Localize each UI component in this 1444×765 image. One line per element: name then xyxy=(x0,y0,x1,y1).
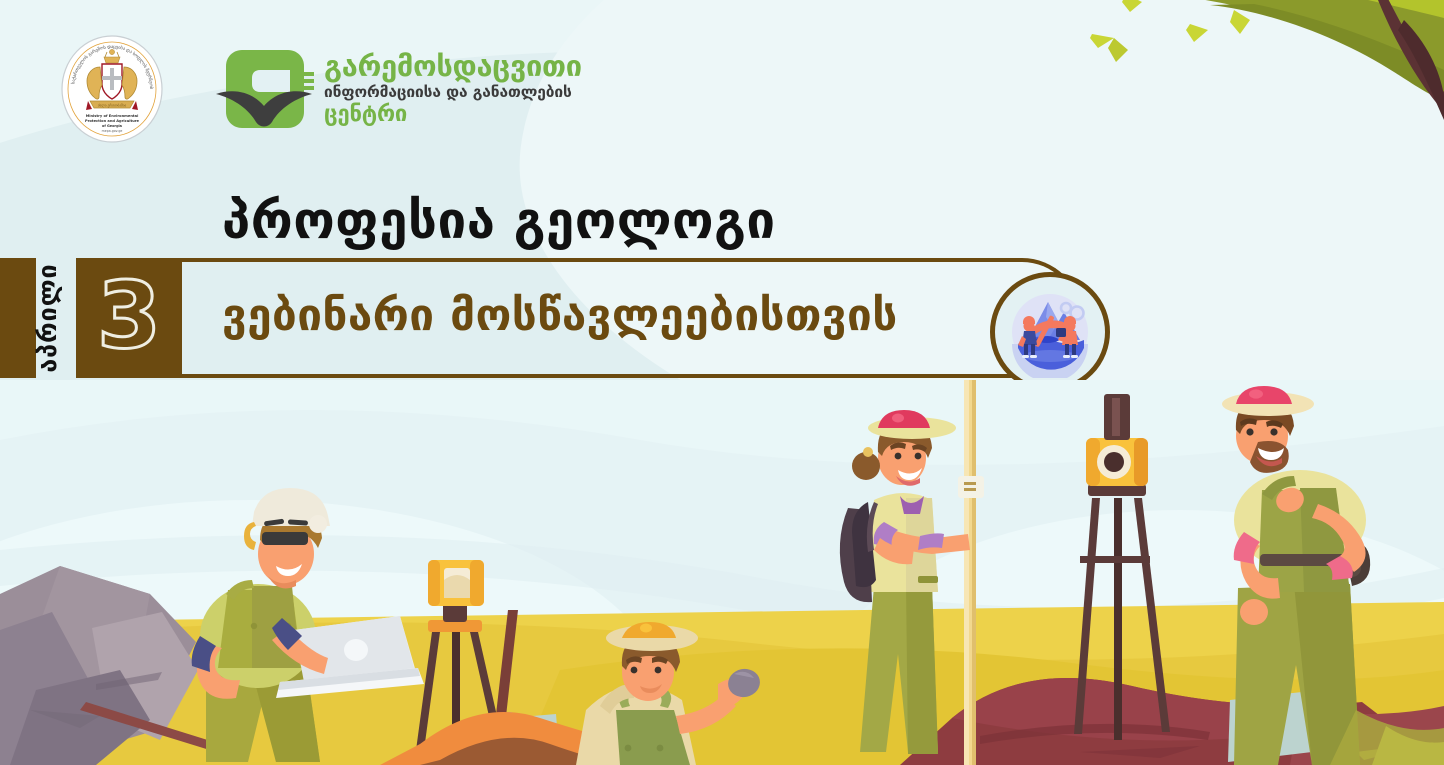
page-title: პროფესია გეოლოგი xyxy=(222,192,776,251)
svg-text:ძალა ერთობაშია: ძალა ერთობაშია xyxy=(98,104,127,108)
svg-text:mepa.gov.ge: mepa.gov.ge xyxy=(102,129,123,133)
banner-subtitle: ვებინარი მოსწავლეებისთვის xyxy=(222,290,898,341)
month-label: აპრილი xyxy=(25,258,69,378)
org-name-line3: ცენტრი xyxy=(324,104,582,126)
georgia-coat-of-arms-icon: საქართველოს გარემოს დაცვისა და სოფლის მე… xyxy=(60,35,164,143)
scene-illustration xyxy=(0,380,1444,765)
svg-text:Protection and Agriculture: Protection and Agriculture xyxy=(85,119,140,123)
open-book-logo-icon xyxy=(216,46,314,132)
org-name-line2: ინფორმაციისა და განათლების xyxy=(324,85,582,101)
org-name-line1: გარემოსდაცვითი xyxy=(324,52,582,81)
poster-canvas: საქართველოს გარემოს დაცვისა და სოფლის მე… xyxy=(0,0,1444,765)
organization-name: გარემოსდაცვითი ინფორმაციისა და განათლები… xyxy=(324,52,582,126)
geologists-mountain-pickaxe-icon xyxy=(990,272,1110,392)
foliage-decoration xyxy=(974,0,1444,130)
svg-text:of Georgia: of Georgia xyxy=(102,124,123,128)
svg-text:Ministry of Environmental: Ministry of Environmental xyxy=(86,114,139,118)
day-number: 3 xyxy=(97,270,161,362)
organization-logo: გარემოსდაცვითი ინფორმაციისა და განათლები… xyxy=(216,46,582,132)
logo-row: საქართველოს გარემოს დაცვისა და სოფლის მე… xyxy=(60,35,582,143)
day-number-box: 3 xyxy=(76,258,182,378)
